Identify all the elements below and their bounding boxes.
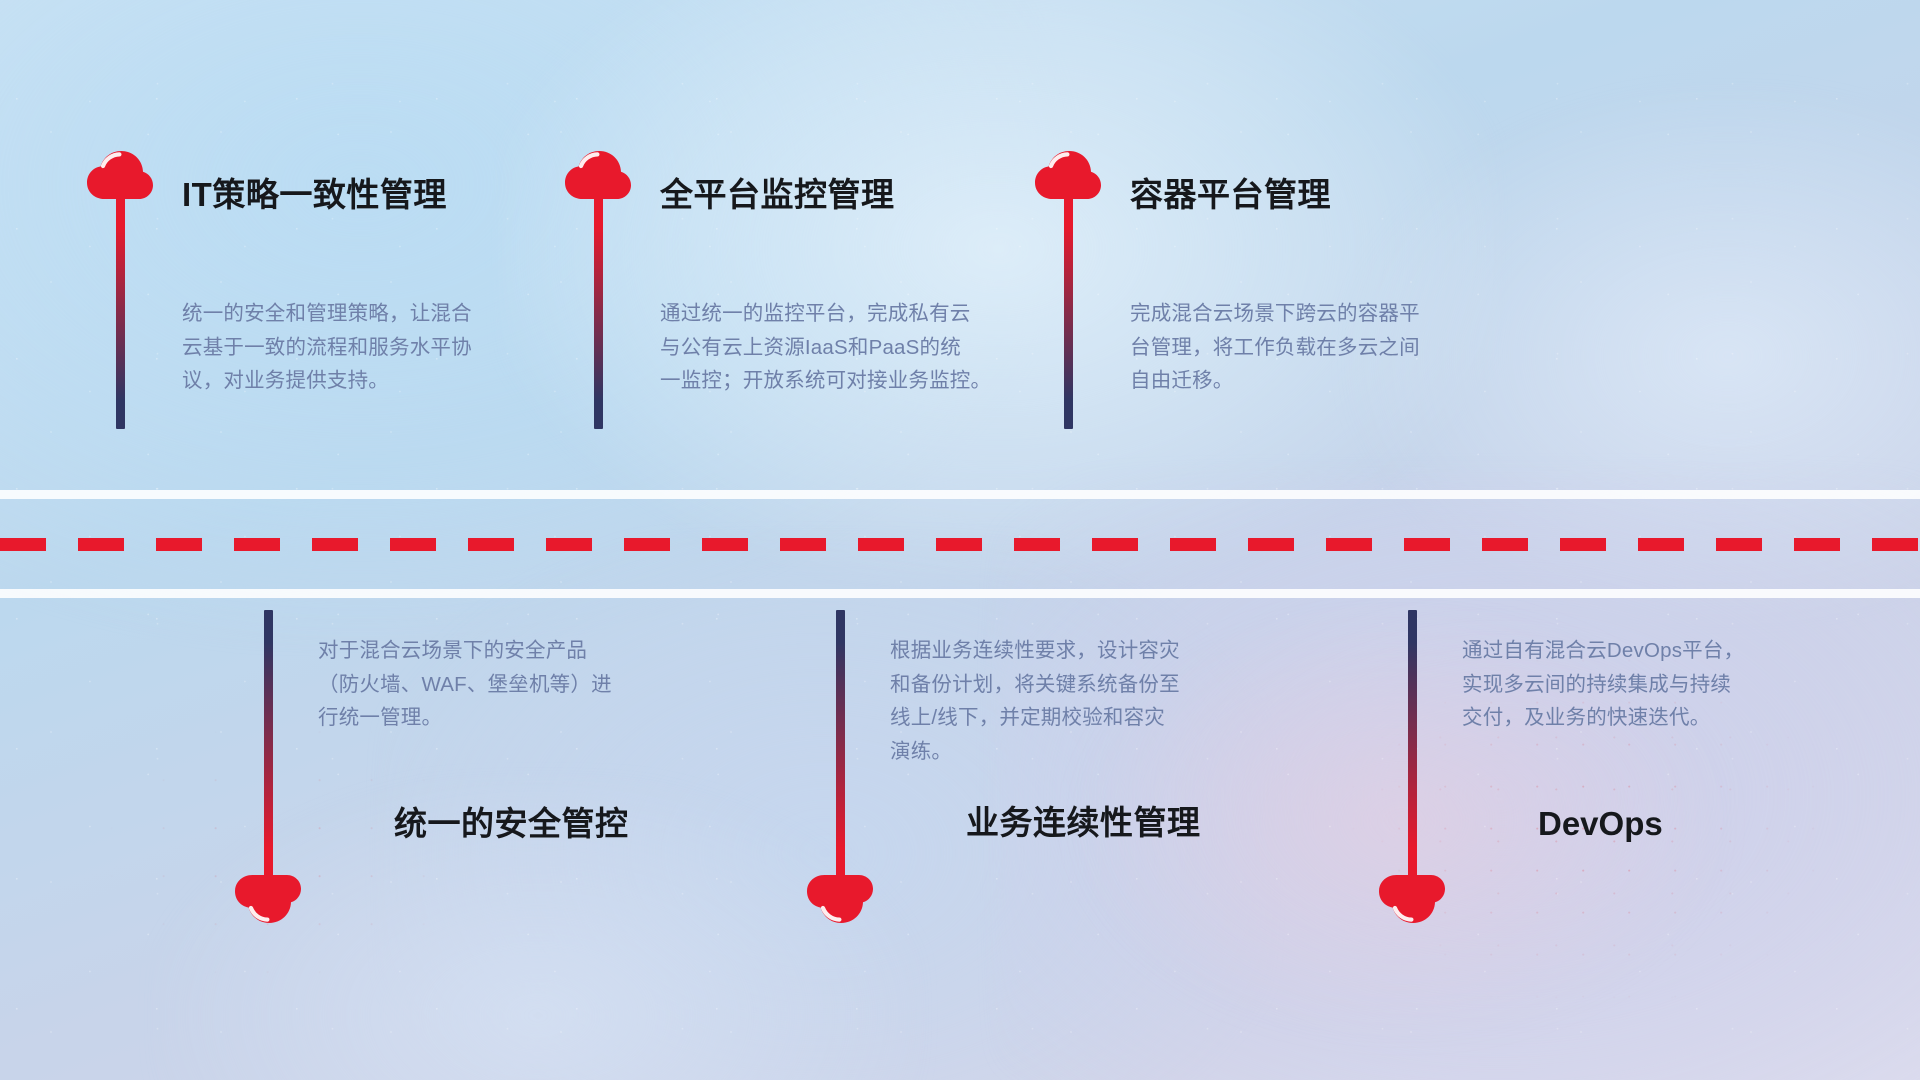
pin-top-3 <box>1048 150 1088 429</box>
hybrid-cloud-capabilities-infographic: IT策略一致性管理 统一的安全和管理策略，让混合 云基于一致的流程和服务水平协 … <box>0 0 1920 1080</box>
stem-bar <box>836 610 845 880</box>
divider-band-bottom <box>0 589 1920 598</box>
card-top-3: 容器平台管理 完成混合云场景下跨云的容器平 台管理，将工作负载在多云之间 自由迁… <box>1048 150 1550 398</box>
cloud-pin-icon <box>234 874 302 924</box>
card-bottom-2: 根据业务连续性要求，设计容灾 和备份计划，将关键系统备份至 线上/线下，并定期校… <box>820 610 1310 839</box>
card-top-2-text: 全平台监控管理 通过统一的监控平台，完成私有云 与公有云上资源IaaS和PaaS… <box>660 178 1110 398</box>
card-title: IT策略一致性管理 <box>182 178 602 211</box>
pin-bottom-3 <box>1392 610 1432 924</box>
stem-bar <box>1064 194 1073 429</box>
stem-bar <box>264 610 273 880</box>
stem-bar <box>1408 610 1417 880</box>
divider-dashes <box>0 538 1920 551</box>
card-body: 通过统一的监控平台，完成私有云 与公有云上资源IaaS和PaaS的统 一监控；开… <box>660 297 1110 398</box>
cloud-pin-icon <box>806 874 874 924</box>
card-bottom-3-text: 通过自有混合云DevOps平台， 实现多云间的持续集成与持续 交付，及业务的快速… <box>1462 634 1882 840</box>
card-title: 业务连续性管理 <box>966 806 1310 839</box>
card-top-2: 全平台监控管理 通过统一的监控平台，完成私有云 与公有云上资源IaaS和PaaS… <box>578 150 1110 398</box>
card-body: 对于混合云场景下的安全产品 （防火墙、WAF、堡垒机等）进 行统一管理。 <box>318 634 738 735</box>
card-bottom-1-text: 对于混合云场景下的安全产品 （防火墙、WAF、堡垒机等）进 行统一管理。 统一的… <box>318 634 738 840</box>
card-bottom-2-text: 根据业务连续性要求，设计容灾 和备份计划，将关键系统备份至 线上/线下，并定期校… <box>890 634 1310 839</box>
pin-top-1 <box>100 150 140 429</box>
stem-bar <box>116 194 125 429</box>
divider-band-top <box>0 490 1920 499</box>
card-top-1-text: IT策略一致性管理 统一的安全和管理策略，让混合 云基于一致的流程和服务水平协 … <box>182 178 602 398</box>
card-top-3-text: 容器平台管理 完成混合云场景下跨云的容器平 台管理，将工作负载在多云之间 自由迁… <box>1130 178 1550 398</box>
card-bottom-3: 通过自有混合云DevOps平台， 实现多云间的持续集成与持续 交付，及业务的快速… <box>1392 610 1882 840</box>
card-title: 容器平台管理 <box>1130 178 1550 211</box>
cloud-pin-icon <box>1034 150 1102 200</box>
cloud-pin-icon <box>1378 874 1446 924</box>
divider-dashed-line <box>0 538 1920 551</box>
card-bottom-1: 对于混合云场景下的安全产品 （防火墙、WAF、堡垒机等）进 行统一管理。 统一的… <box>248 610 738 840</box>
pin-top-2 <box>578 150 618 429</box>
card-body: 完成混合云场景下跨云的容器平 台管理，将工作负载在多云之间 自由迁移。 <box>1130 297 1550 398</box>
card-body: 通过自有混合云DevOps平台， 实现多云间的持续集成与持续 交付，及业务的快速… <box>1462 634 1882 735</box>
card-top-1: IT策略一致性管理 统一的安全和管理策略，让混合 云基于一致的流程和服务水平协 … <box>100 150 602 398</box>
card-title: 统一的安全管控 <box>394 807 738 840</box>
pin-bottom-2 <box>820 610 860 924</box>
card-body: 根据业务连续性要求，设计容灾 和备份计划，将关键系统备份至 线上/线下，并定期校… <box>890 634 1310 768</box>
cloud-pin-icon <box>86 150 154 200</box>
stem-bar <box>594 194 603 429</box>
cloud-pin-icon <box>564 150 632 200</box>
pin-bottom-1 <box>248 610 288 924</box>
card-title: DevOps <box>1538 807 1882 840</box>
card-body: 统一的安全和管理策略，让混合 云基于一致的流程和服务水平协 议，对业务提供支持。 <box>182 297 602 398</box>
